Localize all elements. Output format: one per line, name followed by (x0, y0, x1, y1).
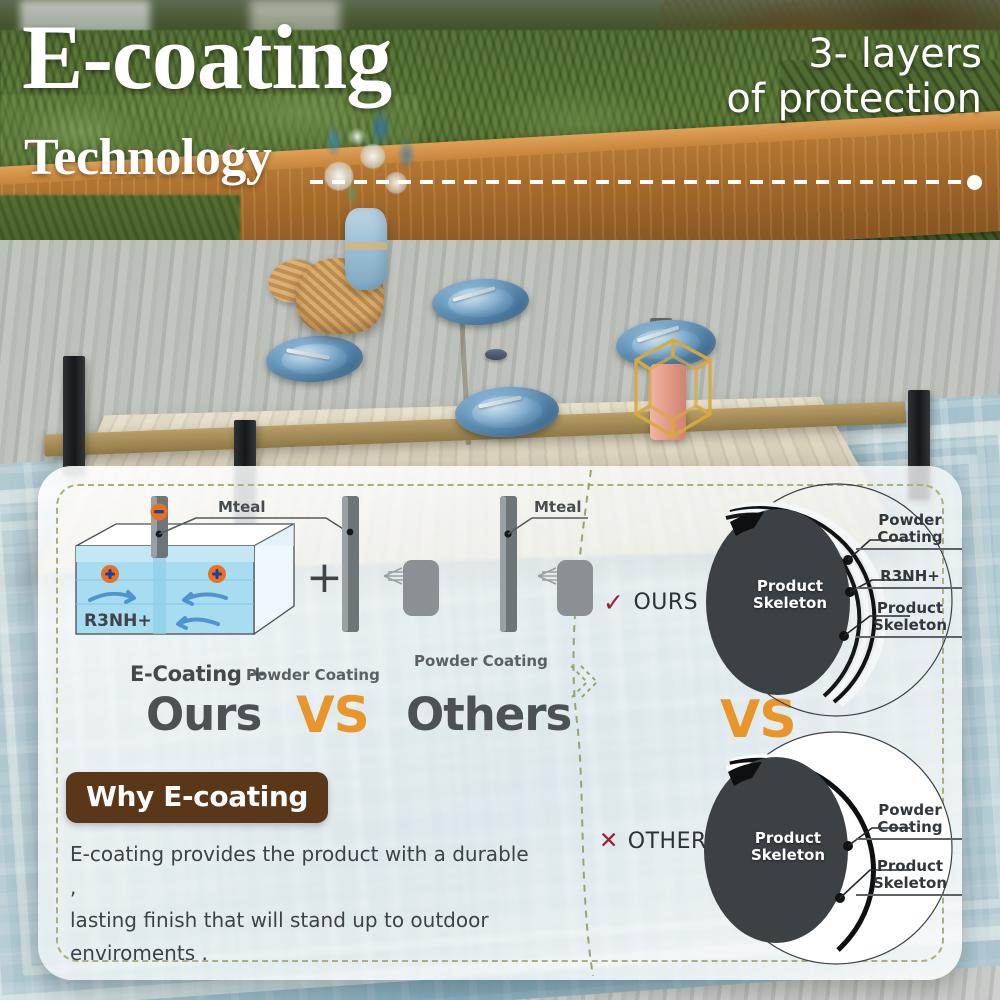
layer-3-line-1: Product (877, 599, 943, 617)
layer-3-line-2: Skeleton (873, 616, 947, 634)
svg-text:Mteal: Mteal (534, 498, 582, 516)
others-core-label-line-2: Skeleton (751, 846, 825, 864)
flower-bouquet (300, 108, 430, 218)
others-core-label-line-1: Product (755, 829, 821, 847)
layer-label-ours-3-text: Product Skeleton (856, 600, 962, 638)
marker-ours: ✓ OURS (603, 588, 698, 617)
marker-ours-label: OURS (633, 590, 698, 615)
others-layer-2-line-2: Skeleton (873, 874, 947, 892)
layer-1-line-2: Coating (877, 528, 942, 546)
description-text: E-coating provides the product with a du… (70, 838, 540, 970)
svg-text:R3NH+: R3NH+ (84, 611, 152, 631)
header-dashed-rule (310, 180, 970, 184)
cross-icon: ✕ (599, 828, 619, 854)
label-vs-left: VS (296, 686, 369, 744)
core-label-line-2: Skeleton (753, 594, 827, 612)
others-layer-1-line-2: Coating (877, 818, 942, 836)
svg-text:Mteal: Mteal (218, 498, 266, 516)
table-umbrella-hole-cover (485, 349, 507, 360)
tagline-line-2: of protection (622, 77, 982, 122)
header-rule-end-dot (967, 175, 982, 190)
others-layer-1-line-1: Powder (878, 801, 941, 819)
layer-1-line-1: Powder (878, 511, 941, 529)
caption-powder-coating-left: Powder Coating (246, 666, 380, 684)
layer-label-others-1: Powder Coating (856, 802, 962, 840)
infographic-root: E-coating Technology 3- layers of protec… (0, 0, 1000, 1000)
table-leg-left (63, 356, 85, 476)
powder-coating-only-diagram: Mteal (486, 488, 666, 668)
header-tagline: 3- layers of protection (622, 32, 982, 122)
layer-label-ours-3: Product Skeleton (856, 600, 962, 638)
layer-label-others-2-text: Product Skeleton (856, 858, 962, 896)
tagline-line-1: 3- layers (622, 32, 982, 77)
layer-label-ours-1-text: Powder Coating (856, 512, 962, 550)
layer-label-others-1-text: Powder Coating (856, 802, 962, 840)
layer-label-others-2: Product Skeleton (856, 858, 962, 896)
why-ecoating-badge: Why E-coating (66, 772, 328, 823)
cross-section-others-core-label: Product Skeleton (736, 830, 840, 865)
comparison-panel: Mteal R3NH+ + (38, 466, 962, 980)
flower-vase (345, 208, 387, 290)
svg-text:+: + (306, 552, 343, 603)
layer-label-ours-1: Powder Coating (856, 512, 962, 550)
core-label-line-1: Product (757, 577, 823, 595)
layer-label-ours-2-text: R3NH+ (856, 568, 962, 589)
gold-candle-holder (618, 336, 728, 448)
description-line-1: E-coating provides the product with a du… (70, 838, 540, 904)
page-subtitle: Technology (24, 128, 271, 187)
description-line-2: lasting finish that will stand up to out… (70, 904, 540, 970)
ours-vs-others-row: Ours VS Others (146, 688, 566, 750)
label-ours: Ours (146, 688, 261, 741)
label-others: Others (406, 688, 571, 741)
layer-label-ours-2: R3NH+ (856, 568, 962, 589)
cross-section-ours-core-label: Product Skeleton (738, 578, 842, 613)
check-icon: ✓ (603, 588, 624, 617)
others-layer-2-line-1: Product (877, 857, 943, 875)
page-title: E-coating (22, 14, 391, 101)
caption-powder-coating-right: Powder Coating (414, 652, 548, 670)
